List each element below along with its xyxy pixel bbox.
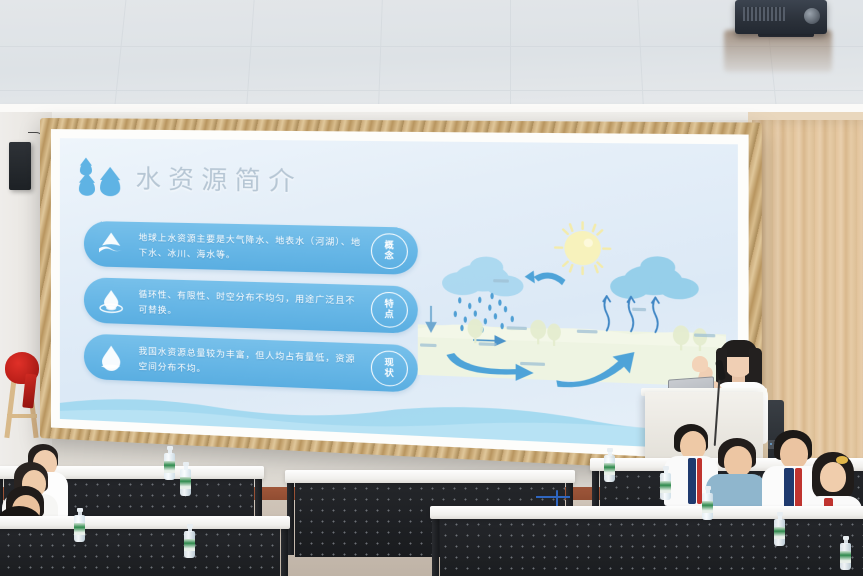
projector-vent: [743, 7, 785, 21]
water-wave-icon: [84, 221, 139, 268]
projector: [735, 0, 827, 34]
water-bottle[interactable]: [840, 536, 851, 570]
water-bottle[interactable]: [604, 448, 615, 482]
slide-surface[interactable]: 水资源简介 地球上水资源主要是大气降水、地表水（河湖）、地下水、冰川、海水等。: [60, 138, 738, 451]
slide-title: 水资源简介: [136, 159, 303, 198]
easel-crossbar: [7, 414, 37, 418]
projector-lens-icon: [804, 8, 820, 24]
water-bottle[interactable]: [180, 462, 191, 496]
screen-mat: 水资源简介 地球上水资源主要是大气降水、地表水（河湖）、地下水、冰川、海水等。: [51, 129, 749, 461]
water-droplet-ripple-icon: [84, 277, 139, 324]
presenter-raised-hand: [692, 356, 708, 372]
table-top: [0, 516, 290, 529]
bullet-text: 循环性、有限性、时空分布不均匀，用途广泛且不可替换。: [139, 287, 371, 324]
water-bottle[interactable]: [660, 466, 671, 500]
bullet-row-concept[interactable]: 地球上水资源主要是大气降水、地表水（河湖）、地下水、冰川、海水等。 概 念: [84, 221, 418, 275]
bullet-tag-char2: 念: [384, 251, 394, 261]
bullet-row-features[interactable]: 循环性、有限性、时空分布不均匀，用途广泛且不可替换。 特 点: [84, 277, 418, 334]
bullet-tag-char2: 状: [384, 368, 394, 378]
cloud-icon-right: [610, 255, 699, 301]
water-cycle-diagram: [418, 200, 726, 402]
water-bottle[interactable]: [164, 446, 175, 480]
soffit-lip: [0, 104, 863, 112]
bullet-tag-features: 特 点: [371, 291, 408, 328]
red-ribbon-icon: [22, 374, 36, 409]
student-head: [820, 462, 846, 492]
evaporation-arrow: [525, 270, 566, 285]
table-modesty-panel: [0, 529, 280, 576]
water-bottle[interactable]: [702, 486, 713, 520]
student-head: [780, 438, 808, 469]
bullet-tag-char2: 点: [384, 309, 394, 319]
bullet-tag-concept: 概 念: [371, 232, 408, 268]
bullet-text: 地球上水资源主要是大气降水、地表水（河湖）、地下水、冰川、海水等。: [139, 230, 371, 265]
student-head: [724, 446, 752, 477]
table-top: [285, 470, 575, 483]
water-bottle[interactable]: [74, 508, 85, 542]
evaporation-icon: [603, 296, 659, 332]
water-bottle[interactable]: [184, 524, 195, 558]
table-top: [430, 506, 863, 519]
table-row-front-left: [0, 516, 290, 576]
lecture-hall-scene: 水资源简介 地球上水资源主要是大气降水、地表水（河湖）、地下水、冰川、海水等。: [0, 0, 863, 576]
easel-leg-left: [4, 378, 16, 438]
red-ribbon-decoration: [2, 352, 42, 438]
water-drops-icon: [78, 160, 122, 201]
water-bottle[interactable]: [774, 512, 785, 546]
sun-icon: [555, 222, 610, 275]
hair-tie: [836, 456, 848, 464]
network-cable-horizontal: [536, 496, 570, 498]
wall-speaker-left: [9, 142, 31, 190]
bullet-tag-status: 现 状: [371, 349, 408, 386]
table-row-front-right: [430, 506, 863, 576]
uniform-stripe: [688, 458, 696, 504]
cloud-icon-left: [442, 256, 523, 297]
table-modesty-panel: [440, 519, 863, 576]
